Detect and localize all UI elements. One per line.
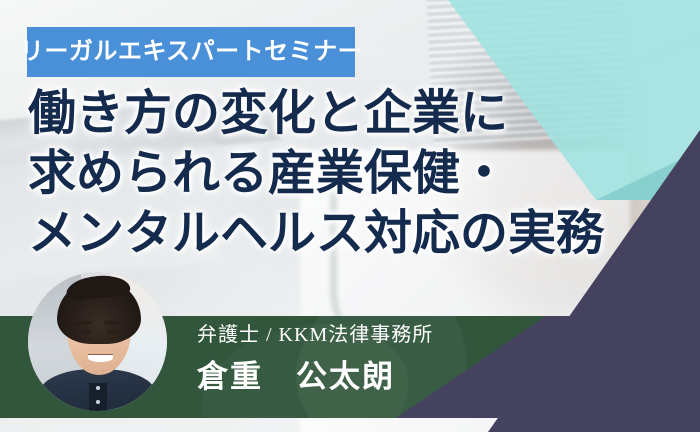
title-line-1: 働き方の変化と企業に — [28, 84, 628, 144]
title-line-2: 求められる産業保健・ — [28, 144, 628, 204]
speaker-role: 弁護士 / KKM法律事務所 — [197, 322, 617, 348]
speaker-name: 倉重 公太朗 — [197, 356, 617, 398]
seminar-banner: リーガルエキスパートセミナー 働き方の変化と企業に 求められる産業保健・ メンタ… — [0, 0, 700, 432]
seminar-category-badge: リーガルエキスパートセミナー — [27, 27, 355, 77]
avatar-eye-left — [75, 329, 90, 334]
avatar-eye-right — [106, 329, 121, 334]
speaker-info: 弁護士 / KKM法律事務所 倉重 公太朗 — [197, 322, 617, 398]
seminar-title: 働き方の変化と企業に 求められる産業保健・ メンタルヘルス対応の実務 — [28, 84, 628, 264]
avatar-mouth — [88, 354, 113, 362]
title-line-3: メンタルヘルス対応の実務 — [28, 204, 628, 264]
speaker-avatar — [28, 272, 167, 411]
seminar-category-label: リーガルエキスパートセミナー — [20, 40, 362, 64]
